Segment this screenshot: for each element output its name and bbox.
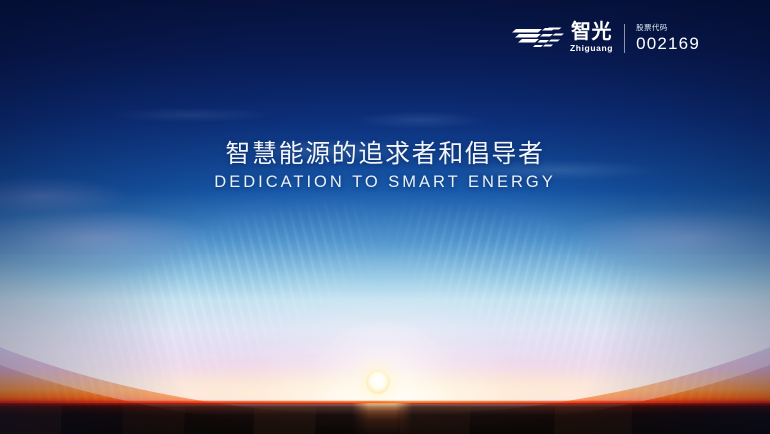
brand-name-pinyin: Zhiguang: [570, 43, 613, 54]
brand-divider: [624, 24, 625, 53]
stock-code-value: 002169: [636, 34, 700, 53]
stock-code-label: 股票代码: [636, 23, 700, 33]
hero-banner: 智光 Zhiguang 股票代码 002169 智慧能源的追求者和倡导者 DED…: [0, 0, 770, 434]
sun-disc: [366, 370, 390, 394]
brand-name-cn: 智光: [571, 22, 612, 43]
tagline-chinese: 智慧能源的追求者和倡导者: [0, 138, 770, 170]
brand-lockup: 智光 Zhiguang 股票代码 002169: [512, 22, 700, 54]
hero-tagline: 智慧能源的追求者和倡导者 DEDICATION TO SMART ENERGY: [0, 138, 770, 193]
tagline-english: DEDICATION TO SMART ENERGY: [0, 172, 770, 193]
stock-code-block: 股票代码 002169: [636, 23, 700, 53]
brand-name-block: 智光 Zhiguang: [570, 22, 613, 54]
sun-reflection: [352, 403, 412, 434]
zhiguang-logo-icon: [512, 24, 564, 52]
